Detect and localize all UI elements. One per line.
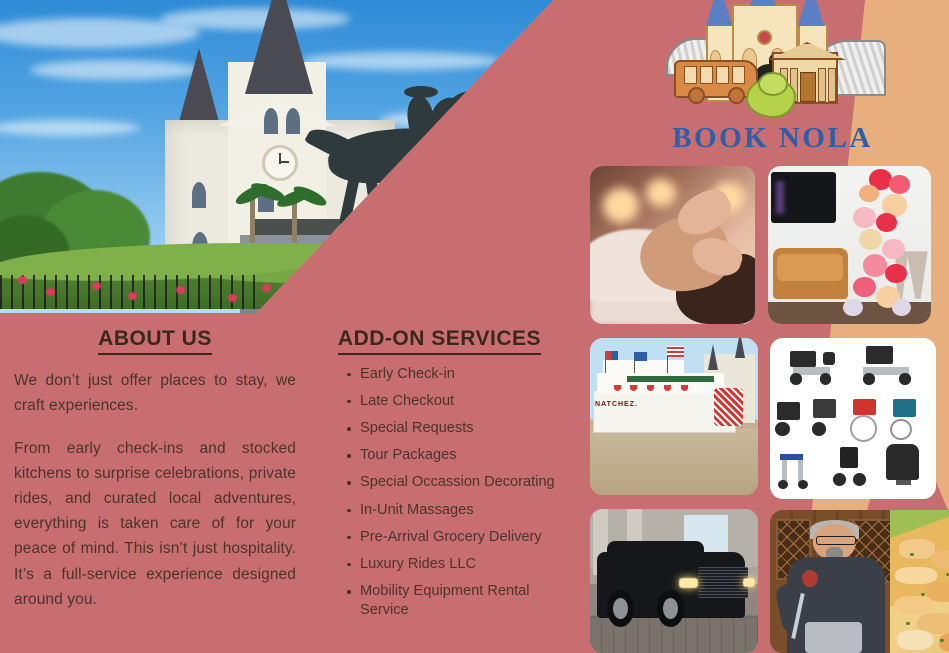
flyer-page: BOOK NOLA ABOUT US We don’t just offer p… (0, 0, 949, 653)
list-item: Special Requests (347, 419, 582, 438)
list-item: Early Check-in (347, 365, 582, 384)
about-us-title: ABOUT US (98, 327, 212, 355)
list-item: Late Checkout (347, 392, 582, 411)
photo-gallery: NATCHEZ. (588, 164, 949, 653)
list-item: Pre-Arrival Grocery Delivery (347, 528, 582, 547)
about-us-column: ABOUT US We don’t just offer places to s… (10, 327, 300, 612)
list-item: Luxury Rides LLC (347, 555, 582, 574)
list-item: Special Occassion Decorating (347, 473, 582, 492)
list-item: Tour Packages (347, 446, 582, 465)
about-paragraph-2: From early check-ins and stocked kitchen… (14, 436, 296, 612)
add-on-services-title: ADD-ON SERVICES (338, 327, 541, 355)
logo-text: BOOK NOLA (660, 124, 885, 153)
new-orleans-cityscape-icon (660, 2, 885, 122)
list-item: Mobility Equipment Rental Service (347, 582, 582, 619)
balloon-decoration-photo (768, 166, 931, 324)
mobility-equipment-photo (770, 338, 936, 499)
luxury-suv-photo (590, 509, 758, 653)
andrew-jackson-statue (300, 90, 515, 225)
text-panel: ABOUT US We don’t just offer places to s… (0, 313, 585, 653)
pasta-dish-photo (890, 510, 949, 653)
about-paragraph-1: We don’t just offer places to stay, we c… (14, 368, 296, 418)
list-item: In-Unit Massages (347, 501, 582, 520)
spa-massage-photo (590, 166, 755, 324)
add-on-services-list: Early Check-in Late Checkout Special Req… (297, 365, 582, 620)
hero-image (0, 0, 553, 315)
add-on-services-column: ADD-ON SERVICES Early Check-in Late Chec… (297, 327, 582, 628)
brand-logo[interactable]: BOOK NOLA (660, 2, 885, 157)
steamboat-natchez-photo: NATCHEZ. (590, 338, 758, 495)
